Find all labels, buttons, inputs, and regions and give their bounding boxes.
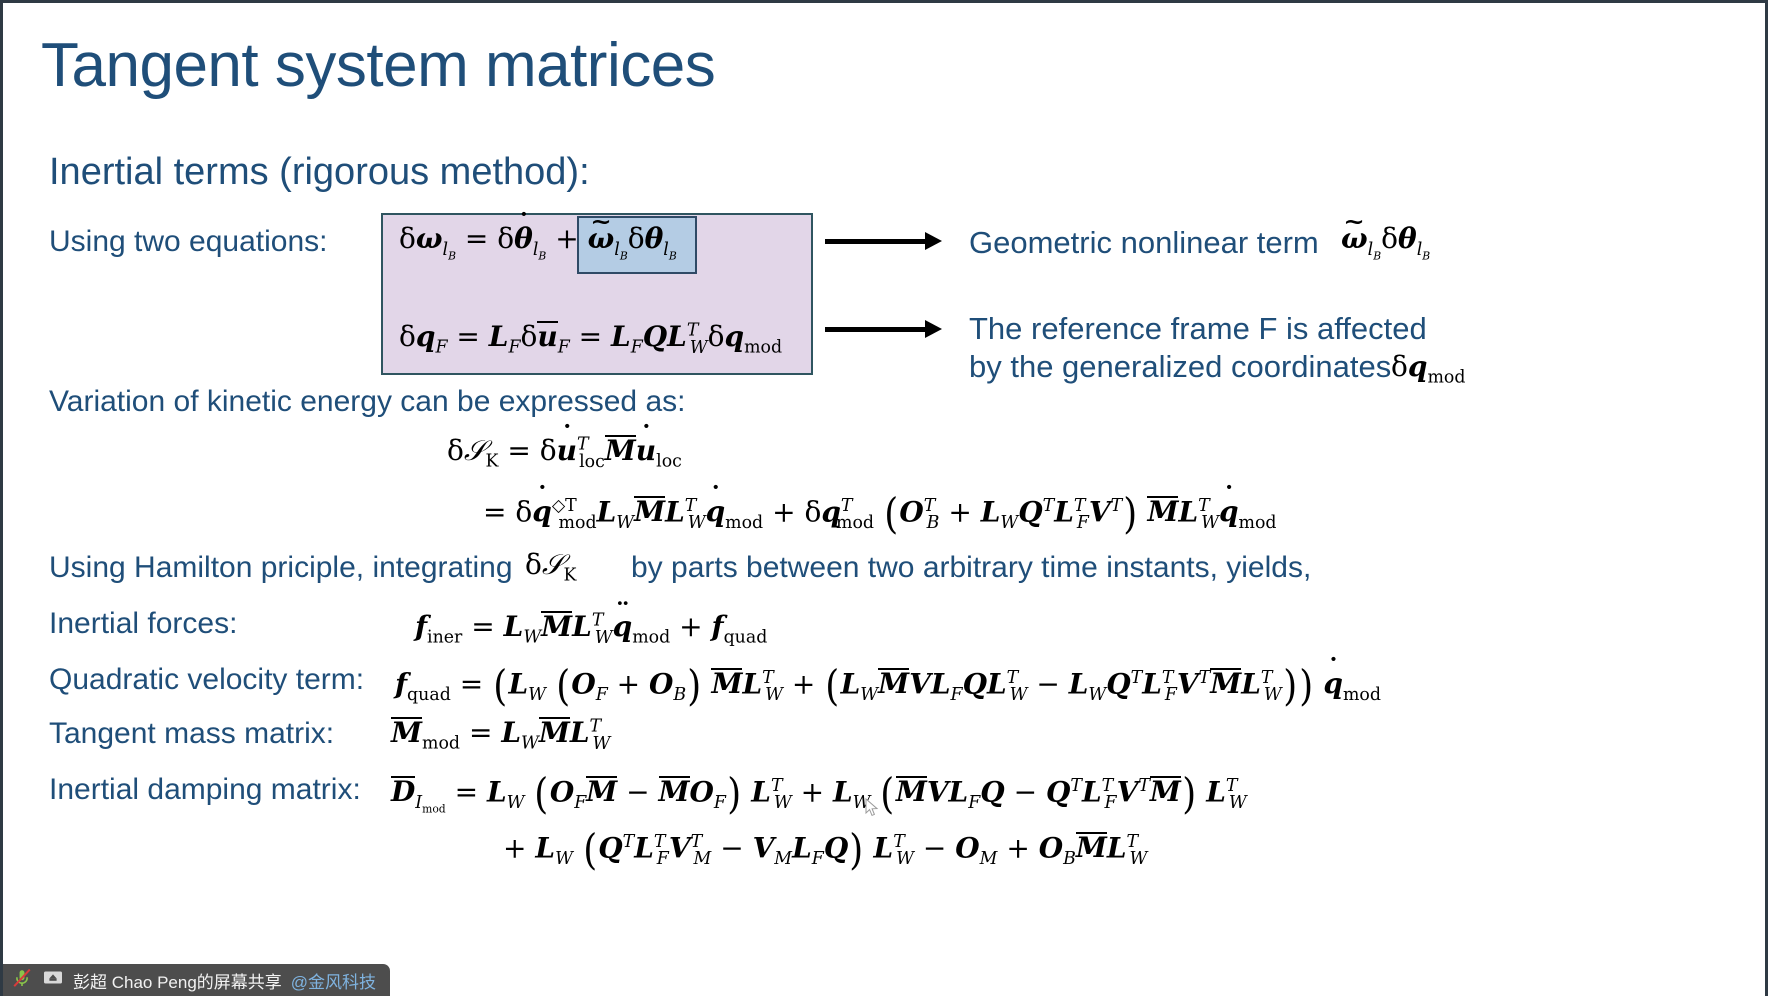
arrow-to-geometric-term xyxy=(825,231,943,253)
equation-inertial-damping-line-1: DImod = LW (OFM − MOF) LTW + LW (MVLFQ −… xyxy=(391,773,1247,815)
equation-tangent-mass-matrix: Mmod = LWMLTW xyxy=(391,717,610,747)
label-hamilton-post: by parts between two arbitrary time inst… xyxy=(631,551,1311,585)
equation-inertial-damping-line-2: + LW (QTLTFVTM − VMLFQ) LTW − OM + OBMLT… xyxy=(503,829,1147,871)
label-quadratic-velocity-term: Quadratic velocity term: xyxy=(49,663,364,697)
callout-reference-frame-line2: by the generalized coordinates xyxy=(969,349,1391,385)
cursor-arrow-icon xyxy=(865,798,879,818)
label-tangent-mass-matrix: Tangent mass matrix: xyxy=(49,717,334,751)
callout-geometric-nonlinear-term: Geometric nonlinear term xyxy=(969,225,1319,261)
mouse-cursor xyxy=(865,798,879,818)
callout-geometric-term-formula: ωlBδθlB xyxy=(1341,225,1430,256)
equation-inertial-forces: finer = LWMLTWqmod + fquad xyxy=(415,611,767,641)
label-hamilton-pre: Using Hamilton priciple, integrating xyxy=(49,551,513,585)
label-variation-kinetic-energy: Variation of kinetic energy can be expre… xyxy=(49,385,685,419)
screen-share-sharer-name: 彭超 Chao Peng的屏幕共享 xyxy=(73,968,282,993)
equation-kinetic-line-2: = δq◇TmodLWMLTWqmod + δqTmod (OTB + LWQT… xyxy=(483,493,1277,535)
microphone-muted-icon[interactable] xyxy=(11,967,33,994)
callout-reference-frame-symbol: δqmod xyxy=(1391,353,1465,381)
arrow-to-reference-frame xyxy=(825,319,943,341)
label-inertial-forces: Inertial forces: xyxy=(49,607,237,641)
label-inertial-damping-matrix: Inertial damping matrix: xyxy=(49,773,361,807)
slide-canvas: Tangent system matrices Inertial terms (… xyxy=(0,0,1768,996)
box-equation-2: δqF = LFδuF = LFQLTWδqmod xyxy=(399,321,782,351)
page-title: Tangent system matrices xyxy=(41,33,715,98)
equation-quadratic-velocity: fquad = (LW (OF + OB) MLTW + (LWMVLFQLTW… xyxy=(395,665,1381,707)
label-using-two-equations: Using two equations: xyxy=(49,225,328,259)
screen-share-taskbar[interactable]: 彭超 Chao Peng的屏幕共享 @金风科技 xyxy=(3,964,390,996)
equation-kinetic-line-1: δ𝒮K = δuTlocMuloc xyxy=(447,435,682,465)
hamilton-symbol: δ𝒮K xyxy=(525,551,577,579)
screen-share-icon[interactable] xyxy=(42,968,64,993)
screen-share-account: @金风科技 xyxy=(291,968,376,993)
section-heading: Inertial terms (rigorous method): xyxy=(49,151,590,194)
callout-reference-frame-line1: The reference frame F is affected xyxy=(969,311,1427,347)
box-equation-1: δωlB = δθlB + ωlBδθlB xyxy=(399,225,677,256)
